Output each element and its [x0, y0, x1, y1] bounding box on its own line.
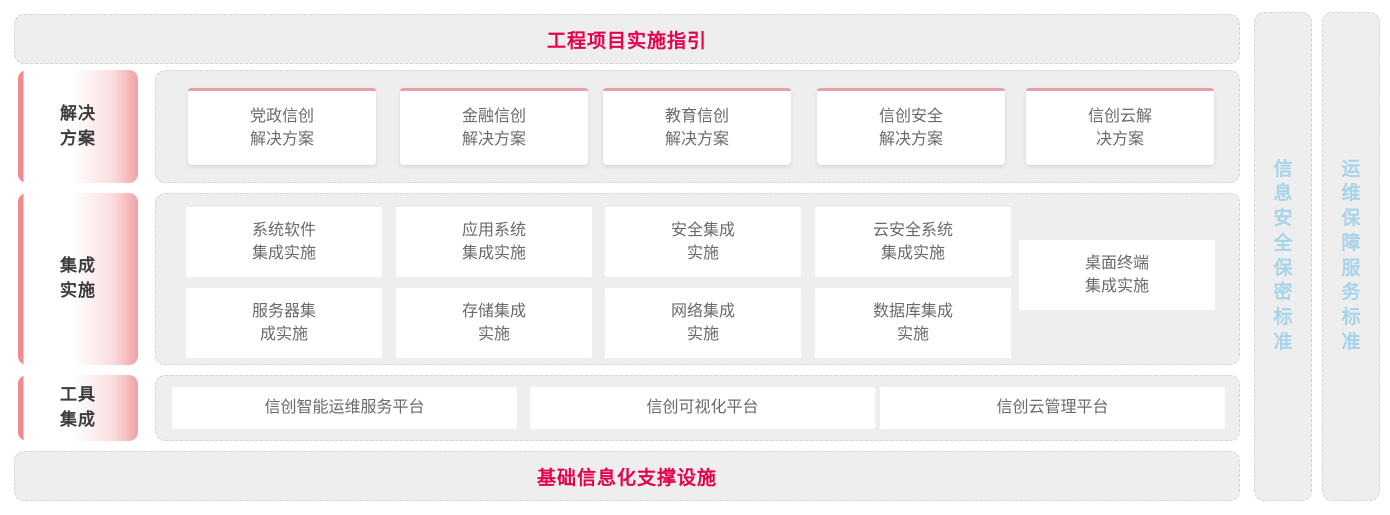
card-tool-3[interactable]: 信创云管理平台 — [880, 387, 1225, 429]
card-integration-r1c3-line1: 安全集成 — [671, 219, 735, 242]
header-banner: 工程项目实施指引 — [14, 14, 1240, 64]
card-integration-r1c4-line2: 集成实施 — [873, 242, 953, 265]
card-solution-1-text: 党政信创 解决方案 — [250, 105, 314, 151]
side-panel-security-standard-text: 信息安全保密标准 — [1272, 158, 1294, 356]
card-integration-r1c4-line1: 云安全系统 — [873, 219, 953, 242]
card-integration-r1c1-text: 系统软件 集成实施 — [252, 219, 316, 265]
card-integration-r1c4[interactable]: 云安全系统 集成实施 — [815, 207, 1011, 277]
card-solution-4-line2: 解决方案 — [879, 128, 943, 151]
side-panel-ops-standard[interactable]: 运维保障服务标准 — [1322, 12, 1380, 501]
card-integration-r1c2-line1: 应用系统 — [462, 219, 526, 242]
card-solution-1-line1: 党政信创 — [250, 105, 314, 128]
card-integration-desktop-terminal-line2: 集成实施 — [1085, 275, 1149, 298]
footer-title: 基础信息化支撑设施 — [537, 463, 717, 490]
card-integration-desktop-terminal-line1: 桌面终端 — [1085, 252, 1149, 275]
card-solution-1[interactable]: 党政信创 解决方案 — [188, 88, 376, 165]
row-label-tools: 工具 集成 — [18, 375, 138, 441]
card-integration-r2c3-line1: 网络集成 — [671, 300, 735, 323]
card-tool-2[interactable]: 信创可视化平台 — [530, 387, 875, 429]
row-label-tools-text: 工具 集成 — [60, 383, 96, 432]
card-solution-5-line1: 信创云解 — [1088, 105, 1152, 128]
card-integration-r1c2-line2: 集成实施 — [462, 242, 526, 265]
card-integration-r2c4-line2: 实施 — [873, 323, 953, 346]
card-integration-r2c1[interactable]: 服务器集 成实施 — [186, 288, 382, 358]
card-tool-1-label: 信创智能运维服务平台 — [264, 396, 424, 419]
card-integration-desktop-terminal-text: 桌面终端 集成实施 — [1085, 252, 1149, 298]
card-solution-2-line1: 金融信创 — [462, 105, 526, 128]
card-integration-r2c2-line2: 实施 — [462, 323, 526, 346]
card-solution-5-line2: 决方案 — [1088, 128, 1152, 151]
card-solution-3[interactable]: 教育信创 解决方案 — [603, 88, 791, 165]
page-title: 工程项目实施指引 — [547, 26, 707, 53]
card-integration-r1c3-text: 安全集成 实施 — [671, 219, 735, 265]
card-integration-r2c1-text: 服务器集 成实施 — [252, 300, 316, 346]
card-solution-2-text: 金融信创 解决方案 — [462, 105, 526, 151]
card-integration-r2c1-line1: 服务器集 — [252, 300, 316, 323]
row-label-integration-line2: 实施 — [60, 279, 96, 304]
card-integration-desktop-terminal[interactable]: 桌面终端 集成实施 — [1019, 240, 1215, 310]
card-integration-r2c4[interactable]: 数据库集成 实施 — [815, 288, 1011, 358]
card-solution-4-line1: 信创安全 — [879, 105, 943, 128]
card-integration-r2c4-text: 数据库集成 实施 — [873, 300, 953, 346]
card-integration-r2c3[interactable]: 网络集成 实施 — [605, 288, 801, 358]
card-integration-r2c3-text: 网络集成 实施 — [671, 300, 735, 346]
row-label-integration-line1: 集成 — [60, 254, 96, 279]
card-integration-r2c2-text: 存储集成 实施 — [462, 300, 526, 346]
card-integration-r1c1[interactable]: 系统软件 集成实施 — [186, 207, 382, 277]
card-tool-2-label: 信创可视化平台 — [646, 396, 758, 419]
card-integration-r1c2[interactable]: 应用系统 集成实施 — [396, 207, 592, 277]
card-integration-r2c1-line2: 成实施 — [252, 323, 316, 346]
card-solution-1-line2: 解决方案 — [250, 128, 314, 151]
card-solution-5-text: 信创云解 决方案 — [1088, 105, 1152, 151]
card-integration-r2c2-line1: 存储集成 — [462, 300, 526, 323]
side-panel-ops-standard-text: 运维保障服务标准 — [1340, 158, 1362, 356]
card-integration-r1c1-line2: 集成实施 — [252, 242, 316, 265]
diagram-root: 工程项目实施指引 解决 方案 党政信创 解决方案 金融信创 解决方案 教育信创 … — [0, 0, 1390, 515]
row-label-integration-text: 集成 实施 — [60, 254, 96, 303]
card-solution-4[interactable]: 信创安全 解决方案 — [817, 88, 1005, 165]
card-solution-5[interactable]: 信创云解 决方案 — [1026, 88, 1214, 165]
card-integration-r2c3-line2: 实施 — [671, 323, 735, 346]
footer-banner: 基础信息化支撑设施 — [14, 451, 1240, 501]
card-solution-2[interactable]: 金融信创 解决方案 — [400, 88, 588, 165]
card-tool-1[interactable]: 信创智能运维服务平台 — [172, 387, 517, 429]
row-label-integration: 集成 实施 — [18, 193, 138, 365]
row-label-solution: 解决 方案 — [18, 70, 138, 183]
card-integration-r1c3[interactable]: 安全集成 实施 — [605, 207, 801, 277]
card-integration-r1c4-text: 云安全系统 集成实施 — [873, 219, 953, 265]
card-integration-r2c4-line1: 数据库集成 — [873, 300, 953, 323]
card-integration-r1c2-text: 应用系统 集成实施 — [462, 219, 526, 265]
card-solution-2-line2: 解决方案 — [462, 128, 526, 151]
side-panel-security-standard[interactable]: 信息安全保密标准 — [1254, 12, 1312, 501]
row-label-solution-line1: 解决 — [60, 102, 96, 127]
row-label-tools-line2: 集成 — [60, 408, 96, 433]
card-integration-r1c3-line2: 实施 — [671, 242, 735, 265]
card-integration-r2c2[interactable]: 存储集成 实施 — [396, 288, 592, 358]
row-label-solution-text: 解决 方案 — [60, 102, 96, 151]
card-tool-3-label: 信创云管理平台 — [996, 396, 1108, 419]
card-integration-r1c1-line1: 系统软件 — [252, 219, 316, 242]
card-solution-3-line2: 解决方案 — [665, 128, 729, 151]
card-solution-3-line1: 教育信创 — [665, 105, 729, 128]
row-label-solution-line2: 方案 — [60, 127, 96, 152]
card-solution-3-text: 教育信创 解决方案 — [665, 105, 729, 151]
card-solution-4-text: 信创安全 解决方案 — [879, 105, 943, 151]
row-label-tools-line1: 工具 — [60, 383, 96, 408]
